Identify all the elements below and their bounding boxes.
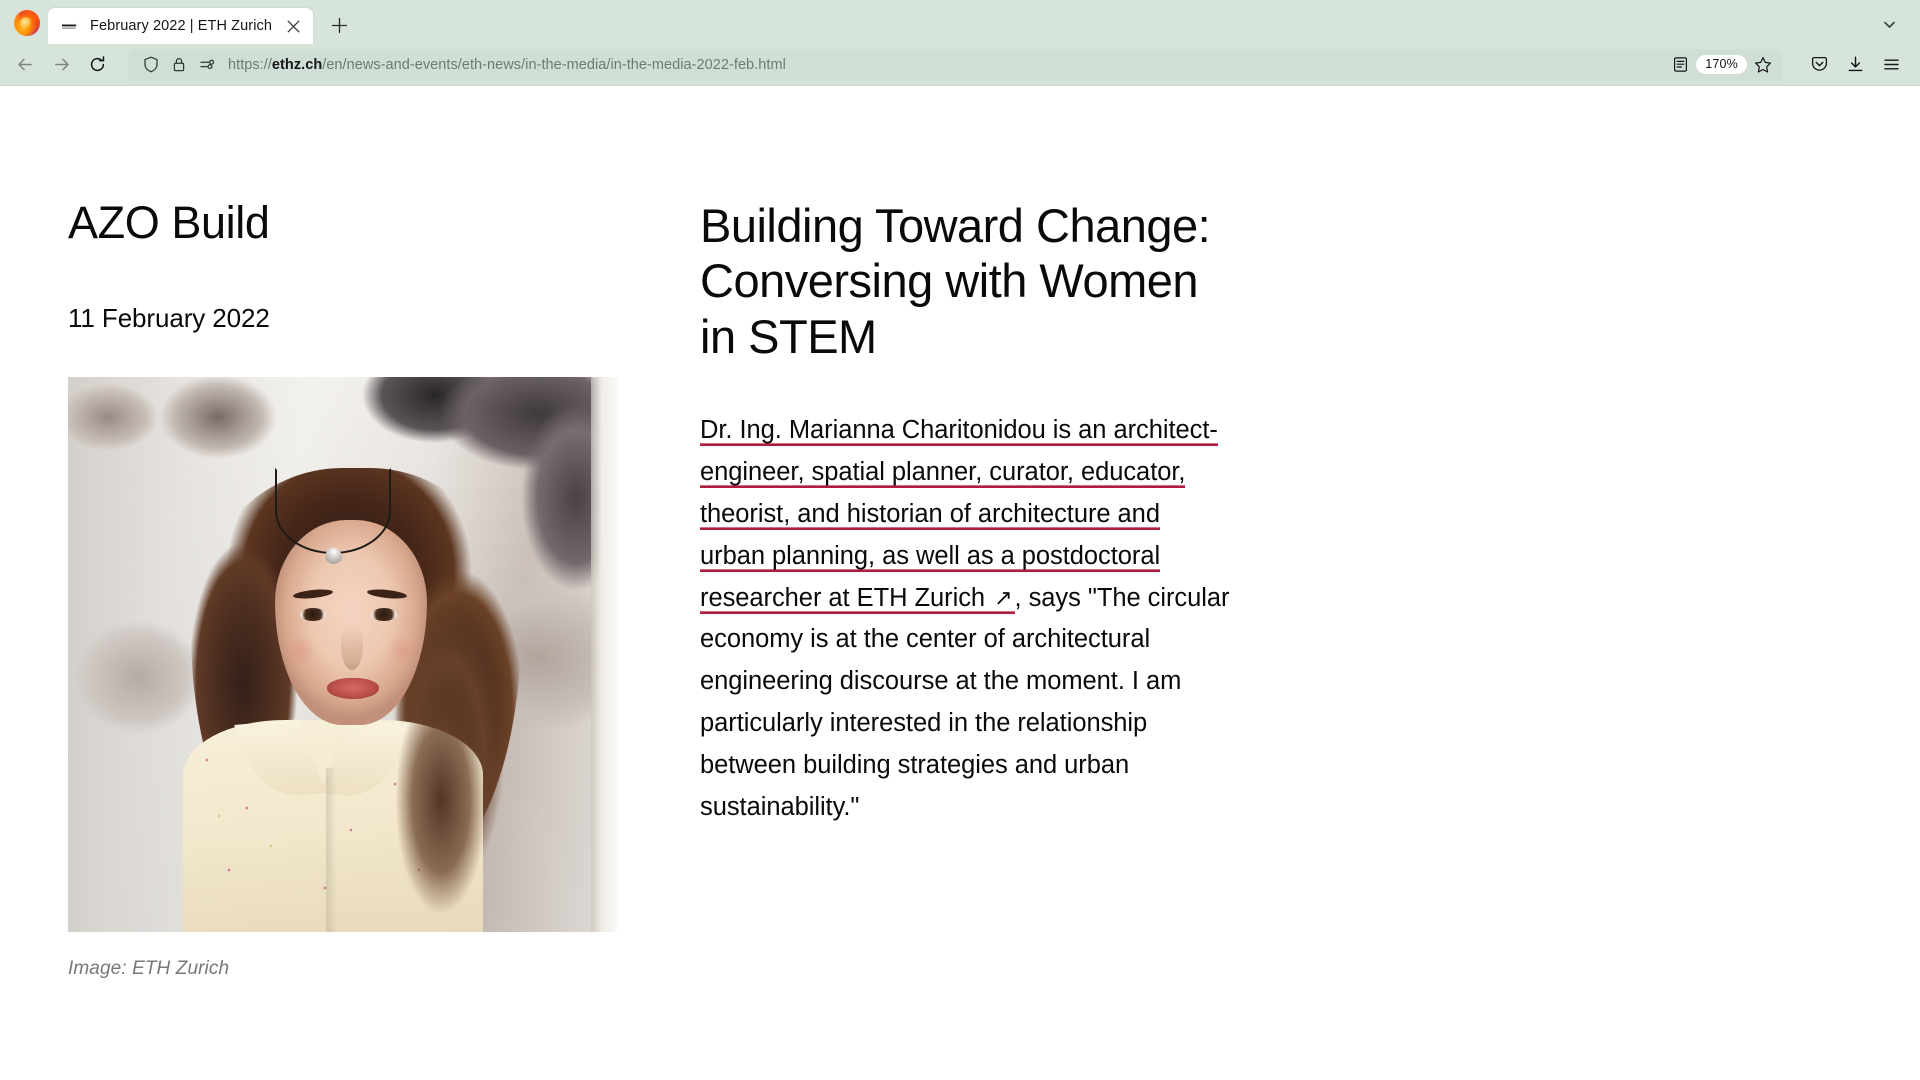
article-photo — [68, 377, 617, 932]
url-prefix: https:// — [228, 57, 272, 73]
cheek-right — [385, 638, 419, 664]
eyebrow-right — [367, 588, 408, 600]
mouth — [327, 678, 379, 699]
article-title: Building Toward Change: Conversing with … — [700, 198, 1220, 364]
pocket-icon[interactable] — [1802, 49, 1836, 81]
new-tab-button[interactable] — [323, 9, 355, 41]
article-meta-column: AZO Build 11 February 2022 — [0, 198, 628, 980]
nose — [341, 624, 363, 670]
tab-strip: February 2022 | ETH Zurich — [0, 0, 1920, 44]
browser-tab-active[interactable]: February 2022 | ETH Zurich — [48, 8, 313, 44]
url-bar[interactable]: https://ethz.ch/en/news-and-events/eth-n… — [128, 49, 1782, 81]
hair-strands — [383, 682, 519, 932]
necklace — [275, 468, 391, 554]
tab-title: February 2022 | ETH Zurich — [90, 18, 272, 34]
reload-icon[interactable] — [80, 49, 114, 81]
eyebrow-left — [293, 588, 334, 600]
reader-view-icon[interactable] — [1667, 52, 1693, 78]
forward-arrow-icon[interactable] — [44, 49, 78, 81]
url-path: /en/news-and-events/eth-news/in-the-medi… — [322, 57, 786, 73]
star-icon[interactable] — [1750, 52, 1776, 78]
photo-right-edge — [591, 377, 617, 932]
page-viewport: AZO Build 11 February 2022 — [0, 86, 1920, 1080]
zoom-level-badge[interactable]: 170% — [1696, 55, 1747, 74]
article-content-column: Building Toward Change: Conversing with … — [628, 198, 1920, 980]
toolbar-right-actions — [1802, 49, 1908, 81]
list-all-tabs-button[interactable] — [1874, 9, 1904, 39]
site-permissions-icon[interactable] — [194, 52, 220, 78]
article-body-text: , says "The circular economy is at the c… — [700, 584, 1229, 821]
collar-left — [234, 720, 326, 799]
article-page: AZO Build 11 February 2022 — [0, 86, 1920, 980]
photo-caption: Image: ETH Zurich — [68, 958, 628, 980]
url-domain: ethz.ch — [272, 57, 322, 73]
eye-right — [371, 608, 397, 621]
url-text[interactable]: https://ethz.ch/en/news-and-events/eth-n… — [228, 57, 1659, 73]
eth-zurich-favicon-icon — [62, 18, 79, 35]
cheek-left — [283, 638, 317, 664]
shield-icon[interactable] — [138, 52, 164, 78]
photo-subject — [183, 462, 528, 932]
external-link-label: Dr. Ing. Marianna Charitonidou is an arc… — [700, 416, 1218, 611]
source-name: AZO Build — [68, 198, 628, 248]
padlock-icon[interactable] — [166, 52, 192, 78]
downloads-icon[interactable] — [1838, 49, 1872, 81]
shirt-placket — [326, 768, 335, 932]
publication-date: 11 February 2022 — [68, 303, 628, 334]
browser-window: February 2022 | ETH Zurich — [0, 0, 1920, 1080]
navigation-toolbar: https://ethz.ch/en/news-and-events/eth-n… — [0, 44, 1920, 86]
close-icon[interactable] — [283, 16, 303, 36]
eye-left — [300, 608, 326, 621]
external-link-icon: ↗ — [992, 587, 1014, 609]
article-body: Dr. Ing. Marianna Charitonidou is an arc… — [700, 410, 1230, 828]
back-arrow-icon[interactable] — [8, 49, 42, 81]
firefox-logo-icon — [14, 10, 40, 36]
urlbar-actions: 170% — [1667, 52, 1776, 78]
hamburger-menu-icon[interactable] — [1874, 49, 1908, 81]
